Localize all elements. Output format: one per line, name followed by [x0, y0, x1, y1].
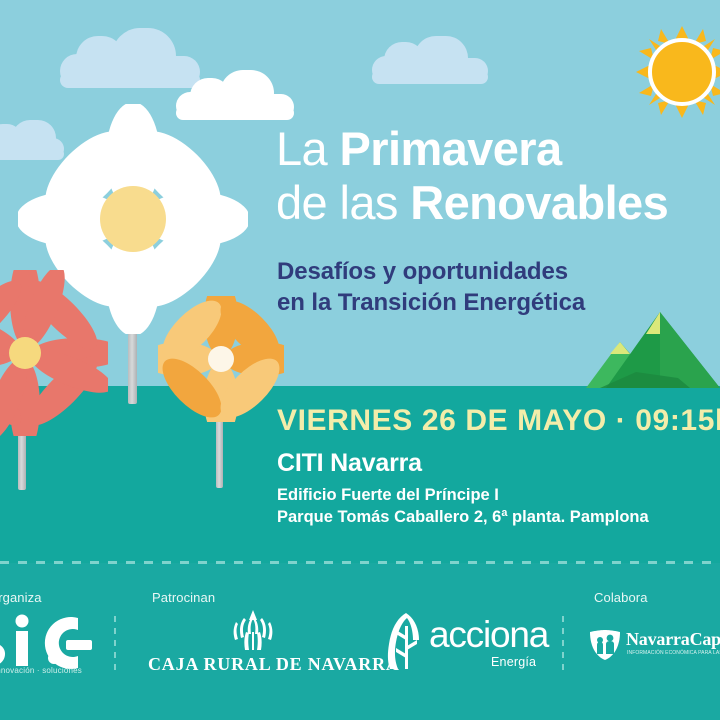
- title-line-1-bold: Primavera: [340, 122, 562, 175]
- footer-label-organiza: Organiza: [0, 590, 42, 605]
- orange-flower: [158, 296, 284, 456]
- subtitle-line-2: en la Transición Energética: [277, 287, 717, 318]
- caja-rural-logo-text: CAJA RURAL DE NAVARRA: [148, 654, 358, 675]
- title-line-1-light: La: [276, 122, 340, 175]
- title-line-2: de las Renovables: [276, 176, 720, 230]
- event-poster: La Primavera de las Renovables Desafíos …: [0, 0, 720, 720]
- event-venue-name: CITI Navarra: [277, 449, 422, 478]
- page-subtitle: Desafíos y oportunidades en la Transició…: [277, 256, 717, 318]
- navarra-capital-logo-text: NavarraCapital: [626, 629, 720, 650]
- event-date-time: VIERNES 26 DE MAYO · 09:15h: [277, 404, 720, 438]
- event-address: Edificio Fuerte del Príncipe I Parque To…: [277, 484, 707, 528]
- navarra-capital-logo-tagline: INFORMACIÓN ECONÓMICA PARA LAS EMPRESAS: [627, 650, 720, 656]
- caja-rural-de-navarra-logo[interactable]: CAJA RURAL DE NAVARRA: [148, 612, 358, 674]
- acciona-logo-subtext: Energía: [491, 655, 536, 669]
- title-line-2-bold: Renovables: [410, 176, 668, 229]
- footer-vertical-separator: [562, 616, 564, 672]
- footer-label-colabora: Colabora: [594, 590, 648, 605]
- title-line-2-light: de las: [276, 176, 410, 229]
- event-address-line-2: Parque Tomás Caballero 2, 6ª planta. Pam…: [277, 506, 707, 528]
- acciona-energia-logo[interactable]: acciona Energía: [384, 610, 536, 674]
- footer-vertical-separator: [114, 616, 116, 672]
- title-line-1: La Primavera: [276, 122, 720, 176]
- footer-label-patrocinan: Patrocinan: [152, 590, 215, 605]
- page-title: La Primavera de las Renovables: [276, 122, 720, 230]
- mountain-icon: [586, 306, 720, 388]
- cloud-icon: [372, 36, 488, 84]
- acciona-logo-text: acciona: [429, 614, 548, 656]
- subtitle-line-1: Desafíos y oportunidades: [277, 256, 717, 287]
- navarra-capital-logo[interactable]: NavarraCapital INFORMACIÓN ECONÓMICA PAR…: [588, 628, 720, 664]
- event-address-line-1: Edificio Fuerte del Príncipe I: [277, 484, 707, 506]
- sig-logo[interactable]: energía · innovación · soluciones: [0, 610, 108, 680]
- sun-icon: [636, 26, 720, 118]
- sig-logo-tagline: energía · innovación · soluciones: [0, 666, 108, 675]
- sun-disc: [648, 38, 716, 106]
- pink-flower: [0, 270, 108, 450]
